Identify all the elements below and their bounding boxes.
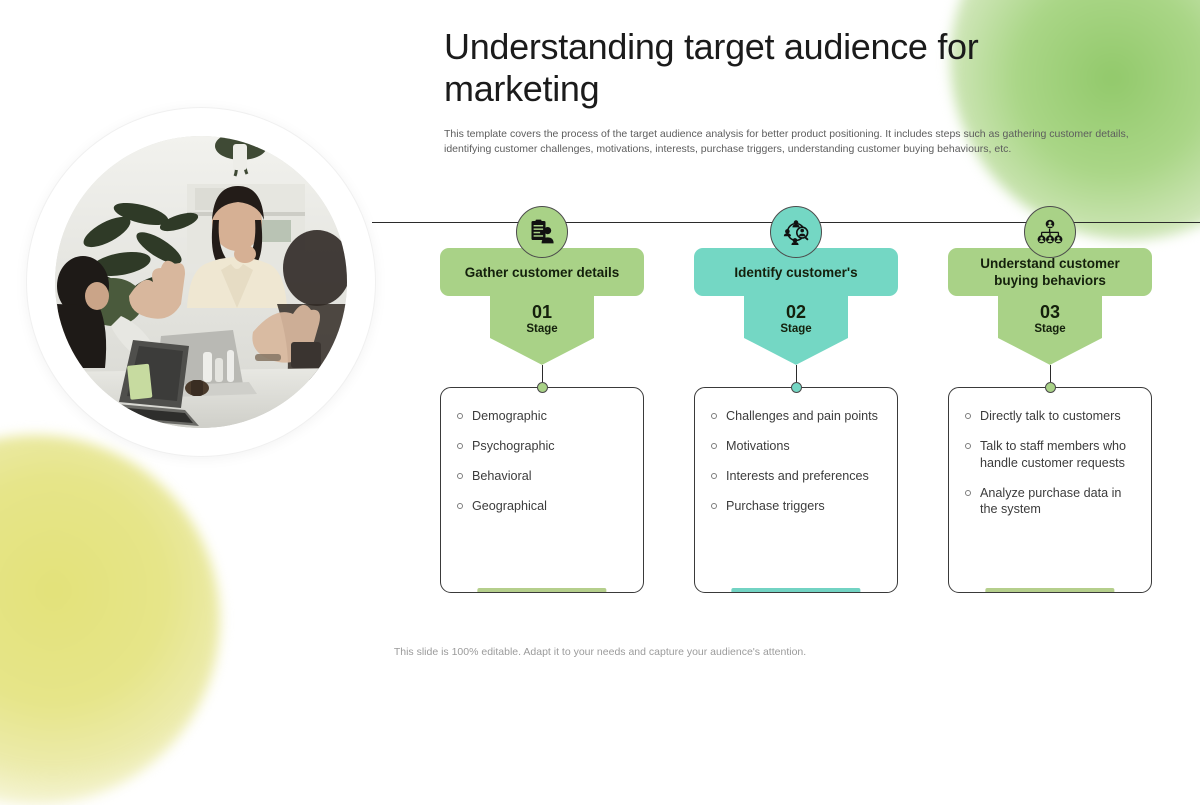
list-item-label: Geographical xyxy=(472,498,547,515)
stage-02-icon-badge[interactable] xyxy=(770,206,822,258)
list-item: Geographical xyxy=(457,498,627,515)
bullet-circle-icon xyxy=(457,443,463,449)
clipboard-person-icon xyxy=(529,219,555,245)
list-item-label: Motivations xyxy=(726,438,790,455)
stage-03-bullet-card: Directly talk to customers Talk to staff… xyxy=(948,387,1152,593)
stage-01-label: Gather customer details xyxy=(465,265,620,282)
bullet-circle-icon xyxy=(457,503,463,509)
bullet-circle-icon xyxy=(457,473,463,479)
stage-01-stage-word: Stage xyxy=(490,323,594,335)
stage-02-label: Identify customer's xyxy=(734,265,857,282)
stage-01-number: 01 xyxy=(490,303,594,322)
stage-01-node-dot xyxy=(537,382,548,393)
page-title: Understanding target audience for market… xyxy=(444,26,1004,110)
stage-02-bullet-list: Challenges and pain points Motivations I… xyxy=(711,408,881,515)
list-item: Talk to staff members who handle custome… xyxy=(965,438,1135,472)
list-item-label: Demographic xyxy=(472,408,547,425)
stage-02-number: 02 xyxy=(744,303,848,322)
stage-02[interactable]: Identify customer's 02 Stage Challenges … xyxy=(694,206,898,636)
stage-03-stage-word: Stage xyxy=(998,323,1102,335)
list-item-label: Directly talk to customers xyxy=(980,408,1121,425)
bullet-circle-icon xyxy=(965,413,971,419)
list-item: Interests and preferences xyxy=(711,468,881,485)
list-item-label: Interests and preferences xyxy=(726,468,869,485)
list-item: Analyze purchase data in the system xyxy=(965,485,1135,519)
stage-01-icon-badge[interactable] xyxy=(516,206,568,258)
stage-list: Gather customer details 01 Stage Demogra… xyxy=(440,206,1152,636)
background-blob-yellow xyxy=(0,435,220,805)
people-network-search-icon xyxy=(783,219,809,245)
page-subtitle: This template covers the process of the … xyxy=(444,127,1144,157)
list-item-label: Purchase triggers xyxy=(726,498,825,515)
list-item-label: Behavioral xyxy=(472,468,532,485)
bullet-circle-icon xyxy=(965,443,971,449)
stage-02-bullet-card: Challenges and pain points Motivations I… xyxy=(694,387,898,593)
list-item: Challenges and pain points xyxy=(711,408,881,425)
stage-01[interactable]: Gather customer details 01 Stage Demogra… xyxy=(440,206,644,636)
list-item-label: Challenges and pain points xyxy=(726,408,878,425)
stage-02-node-dot xyxy=(791,382,802,393)
bullet-circle-icon xyxy=(711,443,717,449)
list-item-label: Psychographic xyxy=(472,438,555,455)
team-meeting-photo xyxy=(55,136,347,428)
org-chart-hierarchy-icon xyxy=(1037,219,1063,245)
bullet-circle-icon xyxy=(457,413,463,419)
stage-03-card-accent xyxy=(985,588,1114,592)
list-item: Motivations xyxy=(711,438,881,455)
bullet-circle-icon xyxy=(711,413,717,419)
photo-medallion xyxy=(27,108,375,456)
slide-header: Understanding target audience for market… xyxy=(444,26,1144,158)
stage-03-number: 03 xyxy=(998,303,1102,322)
stage-03-chevron: 03 Stage xyxy=(998,294,1102,365)
stage-01-bullet-card: Demographic Psychographic Behavioral Geo… xyxy=(440,387,644,593)
stage-01-bullet-list: Demographic Psychographic Behavioral Geo… xyxy=(457,408,627,515)
stage-02-card-accent xyxy=(731,588,860,592)
bullet-circle-icon xyxy=(711,503,717,509)
list-item: Behavioral xyxy=(457,468,627,485)
stage-03-icon-badge[interactable] xyxy=(1024,206,1076,258)
list-item-label: Analyze purchase data in the system xyxy=(980,485,1135,519)
stage-02-stage-word: Stage xyxy=(744,323,848,335)
footer-note: This slide is 100% editable. Adapt it to… xyxy=(0,646,1200,658)
list-item: Psychographic xyxy=(457,438,627,455)
list-item-label: Talk to staff members who handle custome… xyxy=(980,438,1135,472)
stage-02-chevron: 02 Stage xyxy=(744,294,848,365)
stage-03-node-dot xyxy=(1045,382,1056,393)
bullet-circle-icon xyxy=(965,490,971,496)
stage-01-card-accent xyxy=(477,588,606,592)
stage-03[interactable]: Understand customer buying behaviors 03 … xyxy=(948,206,1152,636)
list-item: Demographic xyxy=(457,408,627,425)
list-item: Directly talk to customers xyxy=(965,408,1135,425)
list-item: Purchase triggers xyxy=(711,498,881,515)
stage-01-chevron: 01 Stage xyxy=(490,294,594,365)
stage-03-label: Understand customer buying behaviors xyxy=(958,256,1142,290)
stage-03-bullet-list: Directly talk to customers Talk to staff… xyxy=(965,408,1135,518)
bullet-circle-icon xyxy=(711,473,717,479)
